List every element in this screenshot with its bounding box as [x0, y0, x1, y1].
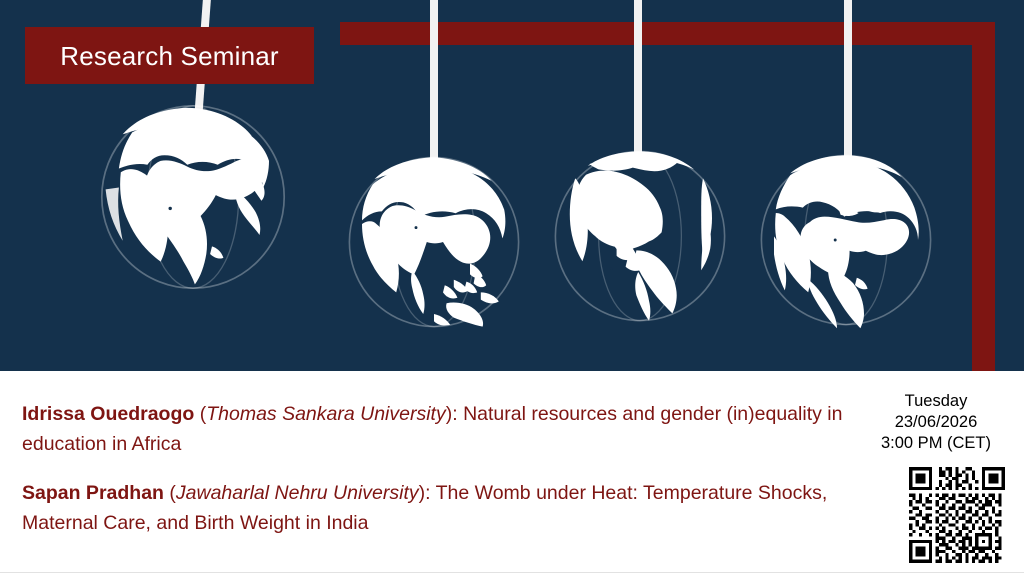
schedule-time: 3:00 PM (CET) — [866, 433, 1006, 454]
hero-banner: Research Seminar — [0, 0, 1024, 371]
info-panel: Idrissa Ouedraogo (Thomas Sankara Univer… — [0, 371, 1024, 578]
paren-open: ( — [194, 403, 206, 425]
globe-africa-europe — [98, 98, 288, 296]
hanging-string-3 — [634, 0, 642, 158]
talk-item: Sapan Pradhan (Jawaharlal Nehru Universi… — [22, 478, 852, 538]
schedule-block: Tuesday 23/06/2026 3:00 PM (CET) — [866, 391, 1006, 454]
speaker-name: Sapan Pradhan — [22, 482, 164, 504]
globe-asia-oceania — [344, 152, 524, 332]
speaker-name: Idrissa Ouedraogo — [22, 403, 194, 425]
paren-open: ( — [164, 482, 176, 504]
footer-divider — [0, 572, 1024, 573]
talks-list: Idrissa Ouedraogo (Thomas Sankara Univer… — [22, 399, 852, 538]
qr-code[interactable] — [909, 467, 1005, 563]
paren-close: ): — [446, 403, 463, 425]
speaker-affiliation: Jawaharlal Nehru University — [176, 482, 419, 504]
speaker-affiliation: Thomas Sankara University — [206, 403, 446, 425]
seminar-poster: Research Seminar Idrissa Ouedraogo (Thom… — [0, 0, 1024, 578]
globe-europe-africa-atlantic — [756, 150, 936, 330]
research-seminar-badge: Research Seminar — [25, 27, 314, 84]
schedule-weekday: Tuesday — [866, 391, 1006, 412]
research-seminar-label: Research Seminar — [60, 43, 279, 69]
schedule-date: 23/06/2026 — [866, 412, 1006, 433]
globe-americas — [550, 146, 730, 326]
hanging-string-2 — [430, 0, 438, 174]
red-bar-horizontal — [340, 22, 995, 45]
hanging-string-4 — [844, 0, 852, 156]
red-bar-vertical — [972, 22, 995, 371]
paren-close: ): — [419, 482, 436, 504]
talk-item: Idrissa Ouedraogo (Thomas Sankara Univer… — [22, 399, 852, 459]
